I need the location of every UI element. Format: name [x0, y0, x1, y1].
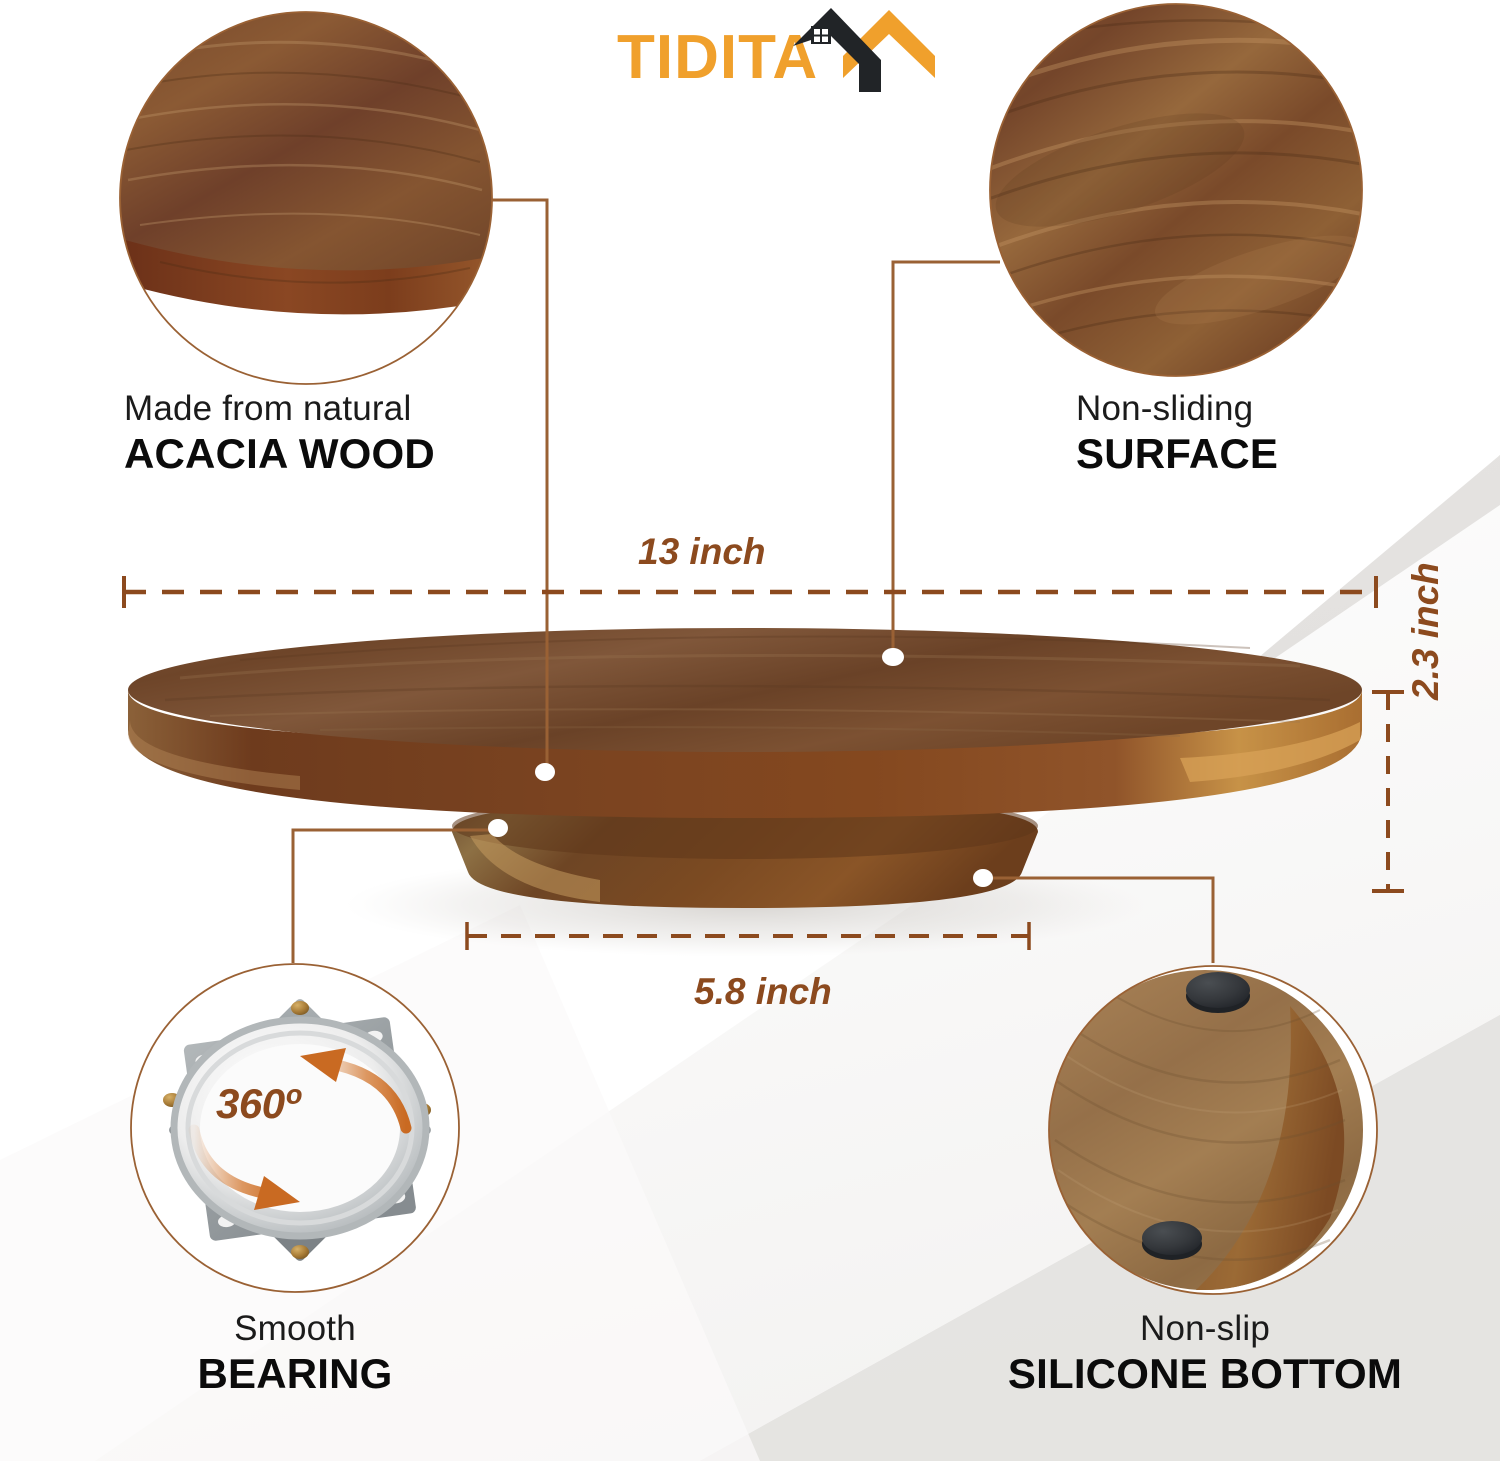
house-roof-icon	[793, 8, 881, 92]
caption-non-sliding-surface: Non-sliding SURFACE	[1076, 388, 1278, 479]
caption-acacia-wood-line2: ACACIA WOOD	[124, 429, 435, 479]
caption-bearing-line2: BEARING	[145, 1349, 445, 1399]
caption-acacia-wood-line1: Made from natural	[124, 388, 435, 429]
anchor-dot-base-left	[488, 819, 508, 837]
caption-surface-line1: Non-sliding	[1076, 388, 1278, 429]
dimension-label-diameter: 13 inch	[638, 531, 766, 573]
caption-silicone-line1: Non-slip	[955, 1308, 1455, 1349]
platter-top	[128, 628, 1362, 752]
infographic-scene	[0, 0, 1500, 1461]
brand-logo: TIDITA	[595, 4, 935, 96]
silicone-pad-bottom	[1142, 1221, 1202, 1255]
anchor-dot-surface	[882, 648, 904, 666]
anchor-dot-rim	[535, 763, 555, 781]
dimension-label-height: 2.3 inch	[1405, 562, 1447, 700]
caption-acacia-wood: Made from natural ACACIA WOOD	[124, 388, 435, 479]
caption-surface-line2: SURFACE	[1076, 429, 1278, 479]
caption-bearing-line1: Smooth	[145, 1308, 445, 1349]
caption-smooth-bearing: Smooth BEARING	[145, 1308, 445, 1399]
dimension-label-base: 5.8 inch	[694, 971, 832, 1013]
caption-silicone-bottom: Non-slip SILICONE BOTTOM	[955, 1308, 1455, 1399]
rotation-badge-360: 360º	[216, 1080, 299, 1128]
caption-silicone-line2: SILICONE BOTTOM	[955, 1349, 1455, 1399]
anchor-dot-base-right	[973, 869, 993, 887]
silicone-pad-top	[1186, 972, 1250, 1008]
